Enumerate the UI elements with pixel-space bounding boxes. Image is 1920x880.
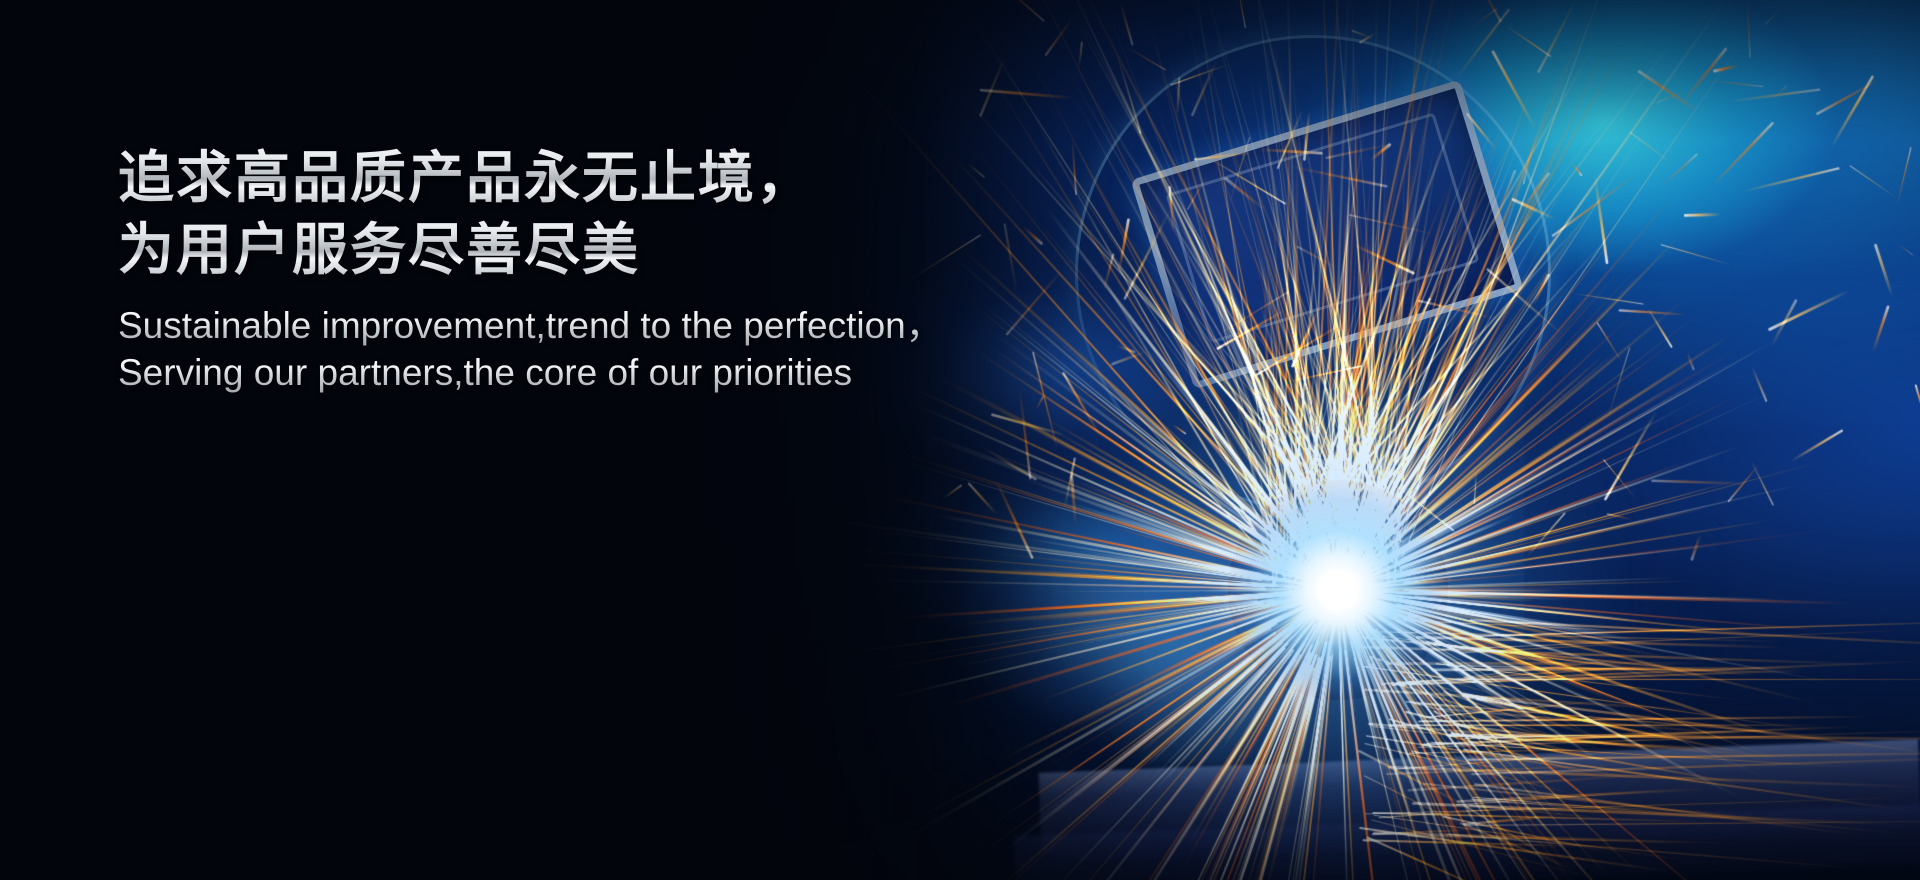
subhead-en-line-2: Serving our partners,the core of our pri… — [118, 349, 943, 396]
subhead-en-block: Sustainable improvement,trend to the per… — [118, 302, 943, 396]
banner-background-photo — [0, 0, 1920, 880]
banner-stage: 追求高品质产品永无止境， 为用户服务尽善尽美 Sustainable impro… — [0, 0, 1920, 880]
headline-cn-line-1: 追求高品质产品永无止境， — [118, 142, 943, 214]
subhead-en-line-1: Sustainable improvement,trend to the per… — [118, 302, 943, 349]
banner-copy-block: 追求高品质产品永无止境， 为用户服务尽善尽美 Sustainable impro… — [118, 142, 943, 396]
headline-cn-line-2: 为用户服务尽善尽美 — [118, 214, 943, 286]
photo-left-fade-overlay — [0, 0, 1920, 880]
